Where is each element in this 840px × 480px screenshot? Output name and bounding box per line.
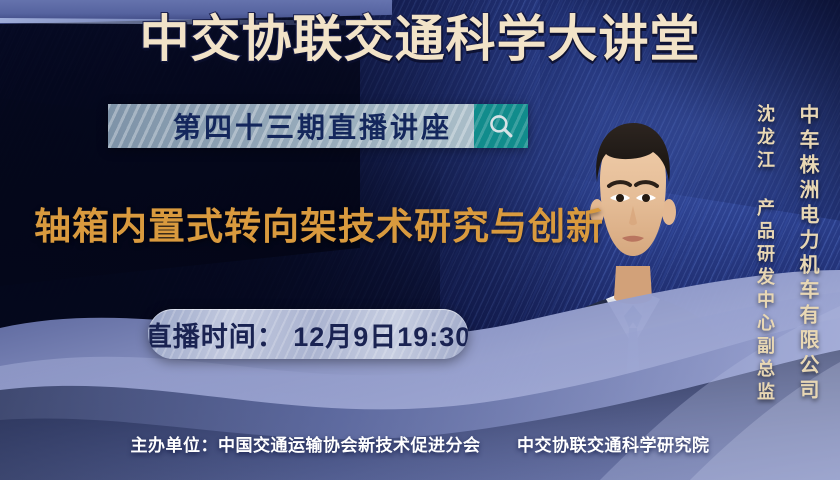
lecture-title: 轴箱内置式转向架技术研究与创新	[34, 196, 604, 250]
livestream-poster: 中交协联交通科学大讲堂 第四十三期直播讲座 轴箱内置式转向架技术研究与创新 直播…	[0, 0, 840, 480]
episode-label: 第四十三期直播讲座	[173, 106, 452, 146]
page-title: 中交协联交通科学大讲堂	[0, 14, 840, 64]
speaker-company: 中车株洲电力机车有限公司	[793, 104, 822, 404]
speaker-name-role: 沈龙江 产品研发中心副总监	[752, 104, 778, 405]
search-icon[interactable]	[474, 104, 528, 148]
episode-banner-body: 第四十三期直播讲座	[108, 104, 474, 148]
footer-organizer-left: 主办单位：中国交通运输协会新技术促进分会	[131, 436, 481, 455]
episode-banner: 第四十三期直播讲座	[108, 104, 528, 148]
footer-organizers: 主办单位：中国交通运输协会新技术促进分会 中交协联交通科学研究院	[0, 431, 840, 456]
live-time-banner: 直播时间： 12月9日19:30	[148, 309, 468, 359]
live-time-text: 直播时间： 12月9日19:30	[148, 315, 468, 354]
footer-organizer-right: 中交协联交通科学研究院	[517, 436, 710, 455]
